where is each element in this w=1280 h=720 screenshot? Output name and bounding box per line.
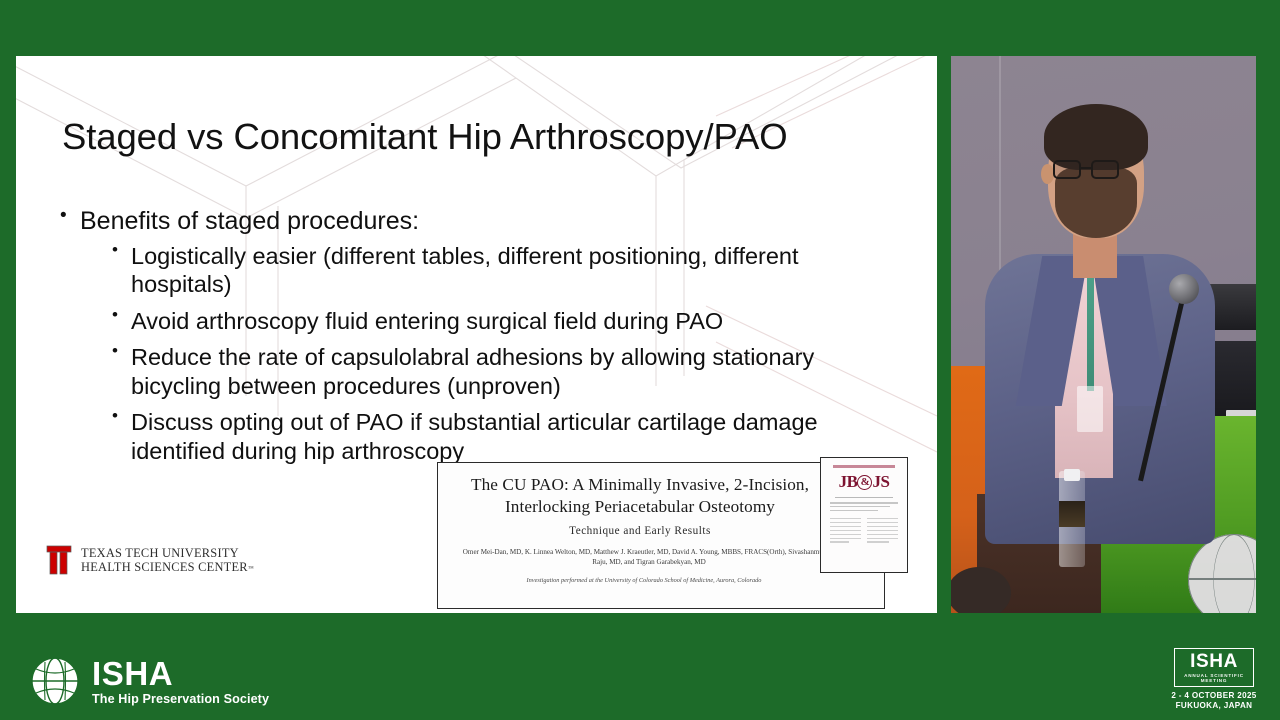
isha-footer-text: ISHA The Hip Preservation Society <box>92 657 269 706</box>
bullet-level1: Benefits of staged procedures: <box>58 205 898 238</box>
journal-cover-thumbnail: JB&JS <box>820 457 908 573</box>
speaker-video-panel[interactable] <box>951 56 1256 613</box>
journal-cover-headlines <box>821 498 907 511</box>
isha-globe-icon <box>30 656 80 706</box>
slide-bullet-list: Benefits of staged procedures: Logistica… <box>58 205 898 473</box>
texas-tech-logo: TEXAS TECH UNIVERSITY HEALTH SCIENCES CE… <box>46 545 254 575</box>
badge-subtitle: ANNUAL SCIENTIFIC MEETING <box>1179 673 1249 683</box>
citation-authors: Omer Mei-Dan, MD, K. Linnea Welton, MD, … <box>450 547 872 568</box>
badge-logo-box: ISHA ANNUAL SCIENTIFIC MEETING <box>1174 648 1254 687</box>
speaker-glasses-left-lens <box>1053 160 1081 179</box>
citation-title: The CU PAO: A Minimally Invasive, 2-Inci… <box>450 474 872 518</box>
speaker-glasses-bridge <box>1081 167 1091 169</box>
texas-tech-logo-text: TEXAS TECH UNIVERSITY HEALTH SCIENCES CE… <box>81 546 254 575</box>
journal-cover-topline <box>833 465 895 468</box>
jbjs-logo-ampersand: & <box>857 475 872 490</box>
microphone-icon <box>1169 274 1199 304</box>
bullet-level2: Reduce the rate of capsulolabral adhesio… <box>110 343 898 400</box>
water-bottle <box>1059 471 1085 567</box>
isha-org-tagline: The Hip Preservation Society <box>92 693 269 706</box>
texas-tech-line2: HEALTH SCIENCES CENTER <box>81 560 248 574</box>
slide-title: Staged vs Concomitant Hip Arthroscopy/PA… <box>62 116 788 158</box>
journal-citation-card: The CU PAO: A Minimally Invasive, 2-Inci… <box>437 462 885 609</box>
jbjs-logo-right: JS <box>872 472 889 491</box>
podium-isha-globe-icon <box>1188 534 1256 613</box>
texas-tech-trademark: ™ <box>248 566 254 572</box>
bottle-cap <box>1064 469 1080 481</box>
slide-panel[interactable]: Staged vs Concomitant Hip Arthroscopy/PA… <box>16 56 937 613</box>
isha-footer-logo: ISHA The Hip Preservation Society <box>30 656 269 706</box>
jbjs-logo-left: JB <box>839 472 858 491</box>
bottle-label <box>1059 501 1085 527</box>
speaker-name-badge <box>1077 386 1103 432</box>
bullet-level2: Discuss opting out of PAO if substantial… <box>110 408 898 465</box>
speaker-glasses-right-lens <box>1091 160 1119 179</box>
badge-city: FUKUOKA, JAPAN <box>1168 701 1260 710</box>
bullet-level2: Avoid arthroscopy fluid entering surgica… <box>110 307 898 336</box>
isha-meeting-badge: ISHA ANNUAL SCIENTIFIC MEETING 2 - 4 OCT… <box>1168 648 1260 710</box>
texas-tech-double-t-icon <box>46 545 72 575</box>
citation-subtitle: Technique and Early Results <box>450 525 872 537</box>
presentation-viewer: Staged vs Concomitant Hip Arthroscopy/PA… <box>0 0 1280 720</box>
journal-cover-columns <box>821 513 907 545</box>
bullet-level2: Logistically easier (different tables, d… <box>110 242 898 299</box>
texas-tech-line1: TEXAS TECH UNIVERSITY <box>81 546 254 560</box>
bullet-sublist: Logistically easier (different tables, d… <box>110 242 898 466</box>
isha-org-name: ISHA <box>92 657 269 690</box>
badge-org-name: ISHA <box>1179 652 1249 671</box>
citation-note: Investigation performed at the Universit… <box>450 577 872 584</box>
speaker-lanyard <box>1087 261 1094 391</box>
jbjs-logo: JB&JS <box>821 472 907 492</box>
badge-date: 2 - 4 OCTOBER 2025 <box>1168 691 1260 700</box>
